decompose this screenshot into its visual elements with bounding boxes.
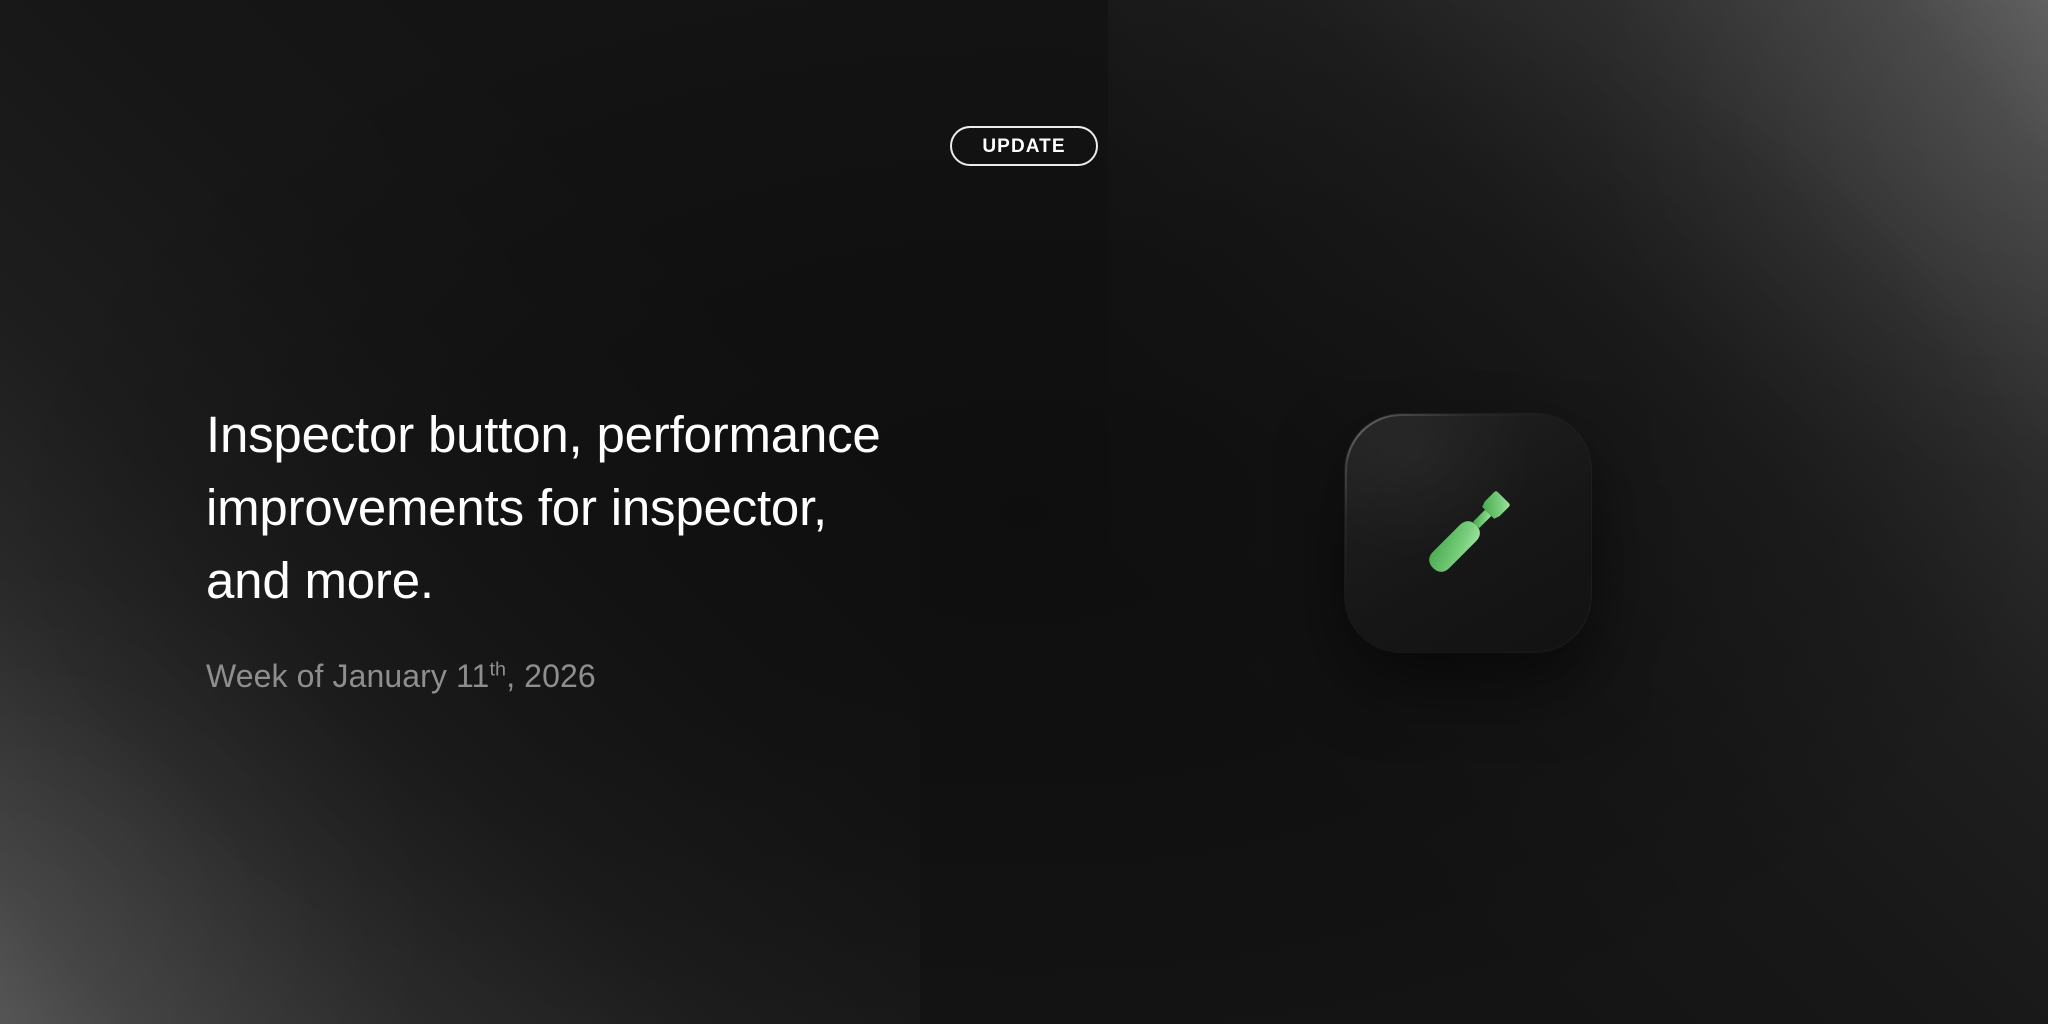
page-title: Inspector button, performance improvemen…	[206, 398, 881, 617]
publish-date-prefix: Week of January 11	[206, 658, 489, 694]
icon-tile	[1345, 414, 1591, 652]
publish-date-suffix: , 2026	[506, 658, 596, 694]
update-hero-banner: UPDATE Inspector button, performance imp…	[0, 0, 2048, 1024]
publish-date: Week of January 11th, 2026	[206, 617, 881, 695]
icon-tile-container	[1345, 414, 1591, 652]
banner-content: UPDATE Inspector button, performance imp…	[0, 0, 2048, 1024]
copy-block: Inspector button, performance improvemen…	[206, 398, 881, 695]
update-badge[interactable]: UPDATE	[950, 126, 1097, 166]
screwdriver-icon	[1398, 463, 1538, 603]
badge-container: UPDATE	[0, 126, 2048, 166]
publish-date-ordinal: th	[489, 658, 506, 680]
